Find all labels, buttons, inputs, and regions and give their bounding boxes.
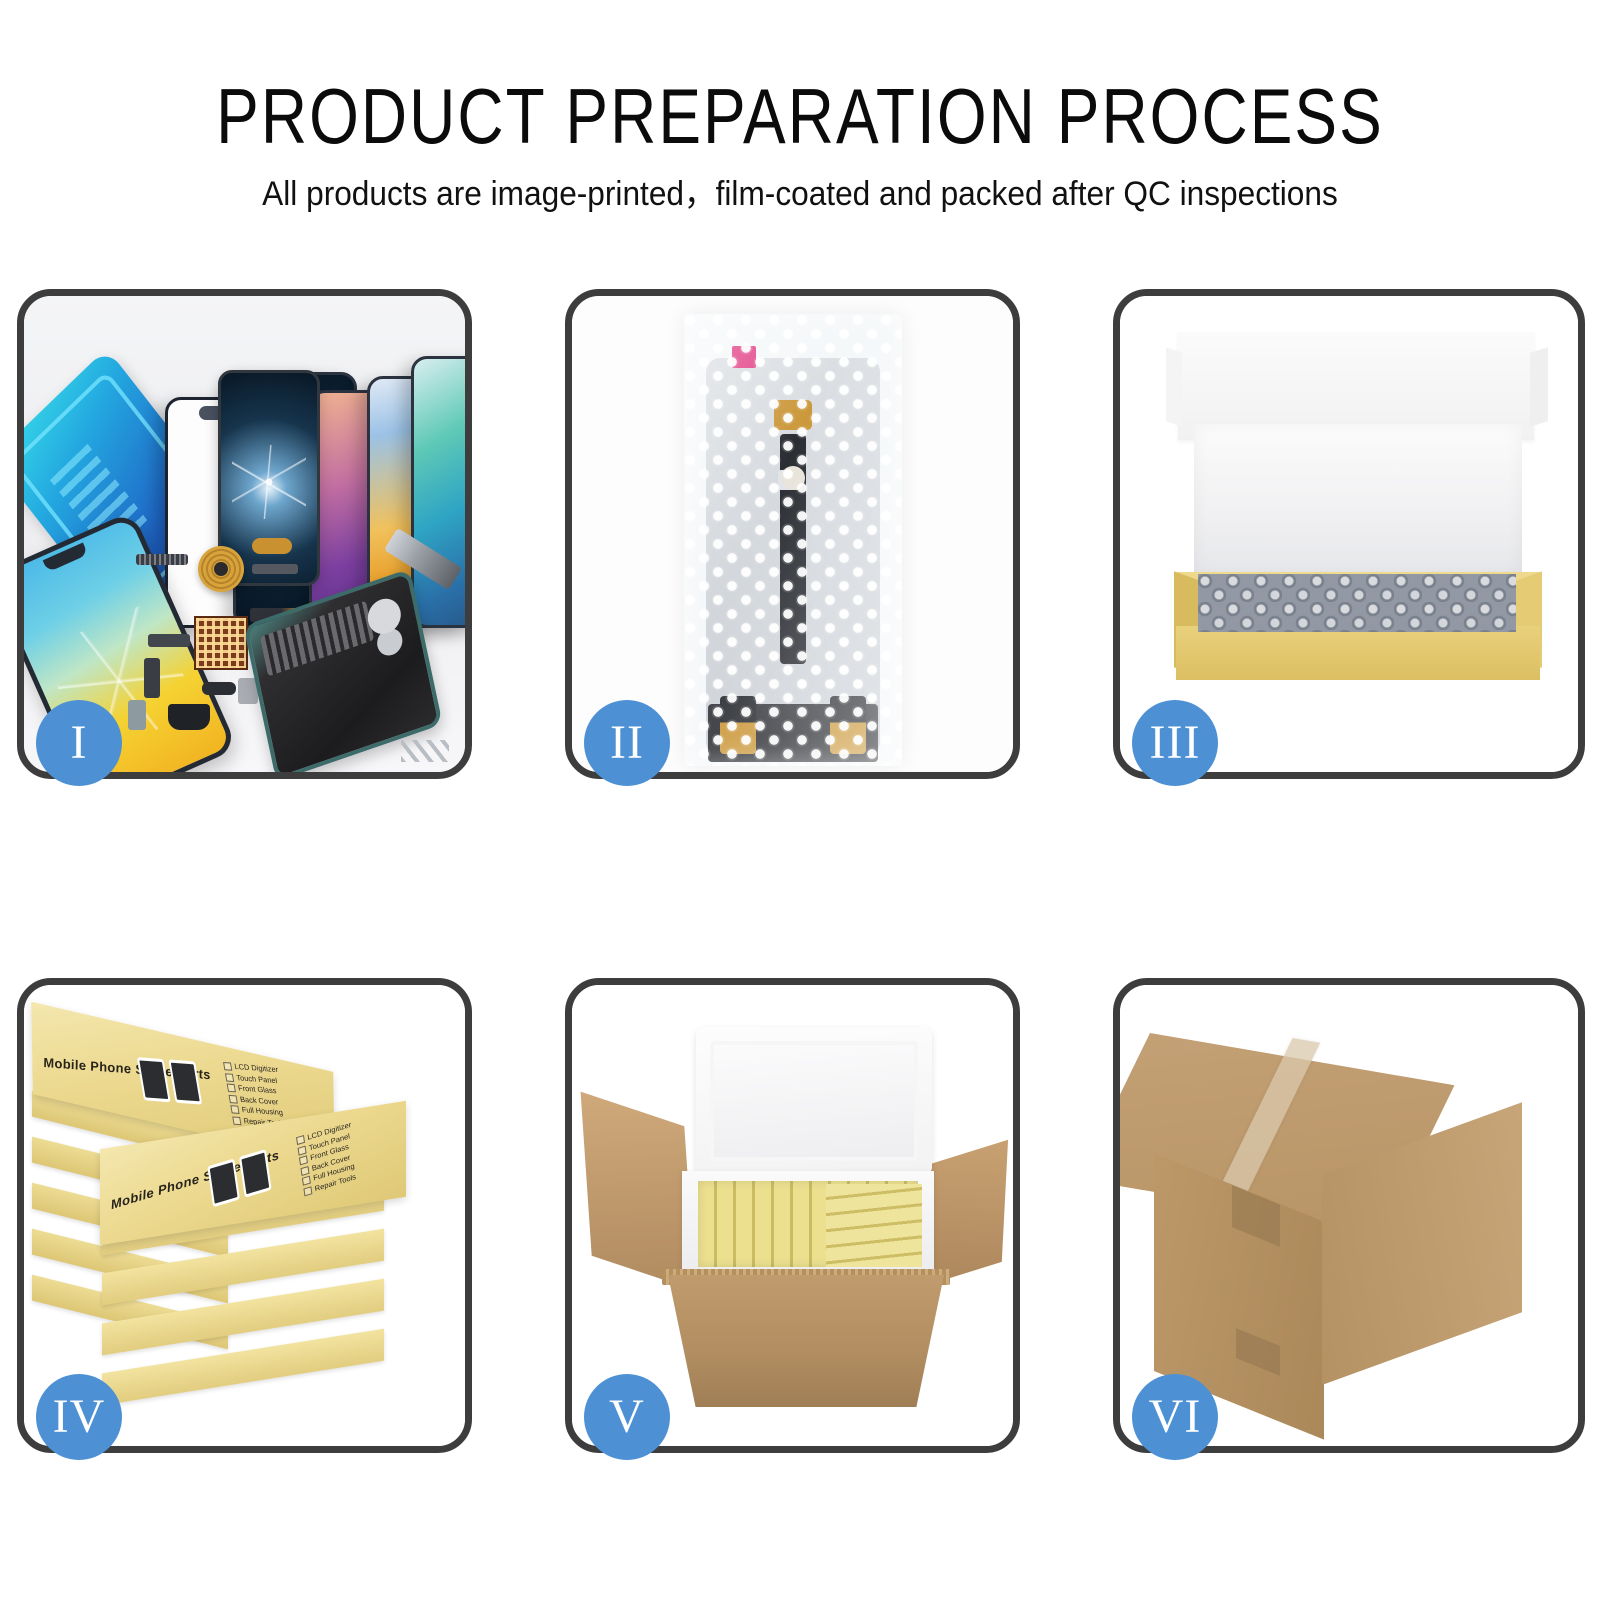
flex-cable-part xyxy=(252,564,298,574)
flex-cable-gold-part xyxy=(252,538,292,554)
box-photo-front xyxy=(137,1057,171,1102)
retail-boxes-inside xyxy=(698,1181,918,1267)
earpiece-speaker-part xyxy=(202,682,236,695)
wireless-charging-coil-part xyxy=(198,546,244,592)
carton-flap-left xyxy=(581,1092,696,1291)
process-step-panel-1: I xyxy=(17,289,472,779)
flex-cable-part xyxy=(144,658,160,698)
step-badge-6: VI xyxy=(1132,1374,1218,1460)
foam-lid xyxy=(696,1027,932,1175)
ic-chip-part xyxy=(194,616,248,670)
box-front-face xyxy=(1176,626,1540,680)
bubble-wrap-layer xyxy=(1198,574,1516,632)
checkbox-icon xyxy=(230,1105,239,1114)
page-title: PRODUCT PREPARATION PROCESS xyxy=(144,0,1456,156)
bubble-wrapped-package xyxy=(684,314,902,766)
box-product-photos xyxy=(207,1149,271,1207)
bubble-film-overlay xyxy=(684,314,902,766)
panel-3-image xyxy=(1120,296,1578,772)
box-photo-front xyxy=(207,1159,240,1208)
screws-part xyxy=(401,740,449,762)
process-step-panel-5: V xyxy=(565,978,1020,1453)
process-step-panel-2: II xyxy=(565,289,1020,779)
page-subtitle: All products are image-printed，film-coat… xyxy=(56,156,1544,212)
process-step-panel-6: VI xyxy=(1113,978,1585,1453)
phone-display-teal xyxy=(411,356,465,628)
connector-strip-part xyxy=(136,554,188,565)
foam-box-scene xyxy=(1120,296,1578,772)
checkbox-icon xyxy=(223,1062,232,1071)
box-checklist: LCD Digitizer Touch Panel Front Glass Ba… xyxy=(223,1061,288,1130)
step-badge-1: I xyxy=(36,700,122,786)
process-step-panel-3: III xyxy=(1113,289,1585,779)
carton-body xyxy=(668,1275,944,1407)
checkbox-icon xyxy=(229,1095,238,1104)
flex-cable-part xyxy=(148,634,190,647)
step-badge-2: II xyxy=(584,700,670,786)
sim-tray-part xyxy=(128,700,146,730)
step-badge-5: V xyxy=(584,1374,670,1460)
box-product-photos xyxy=(137,1057,202,1104)
foam-sheet xyxy=(1194,424,1522,576)
checkbox-icon xyxy=(232,1116,241,1125)
process-step-panel-4: Mobile Phone Spare Parts LCD Digitizer T… xyxy=(17,978,472,1453)
step-badge-3: III xyxy=(1132,700,1218,786)
box-photo-back xyxy=(239,1149,272,1198)
checkbox-icon xyxy=(225,1073,234,1082)
process-steps-grid: I II xyxy=(0,250,1600,1600)
checkbox-icon xyxy=(303,1186,312,1196)
step-badge-4: IV xyxy=(36,1374,122,1460)
box-checklist: LCD Digitizer Touch Panel Front Glass Ba… xyxy=(296,1120,359,1197)
speaker-module-part xyxy=(168,704,210,730)
checkbox-icon xyxy=(227,1084,236,1093)
page-header: PRODUCT PREPARATION PROCESS All products… xyxy=(0,0,1600,250)
